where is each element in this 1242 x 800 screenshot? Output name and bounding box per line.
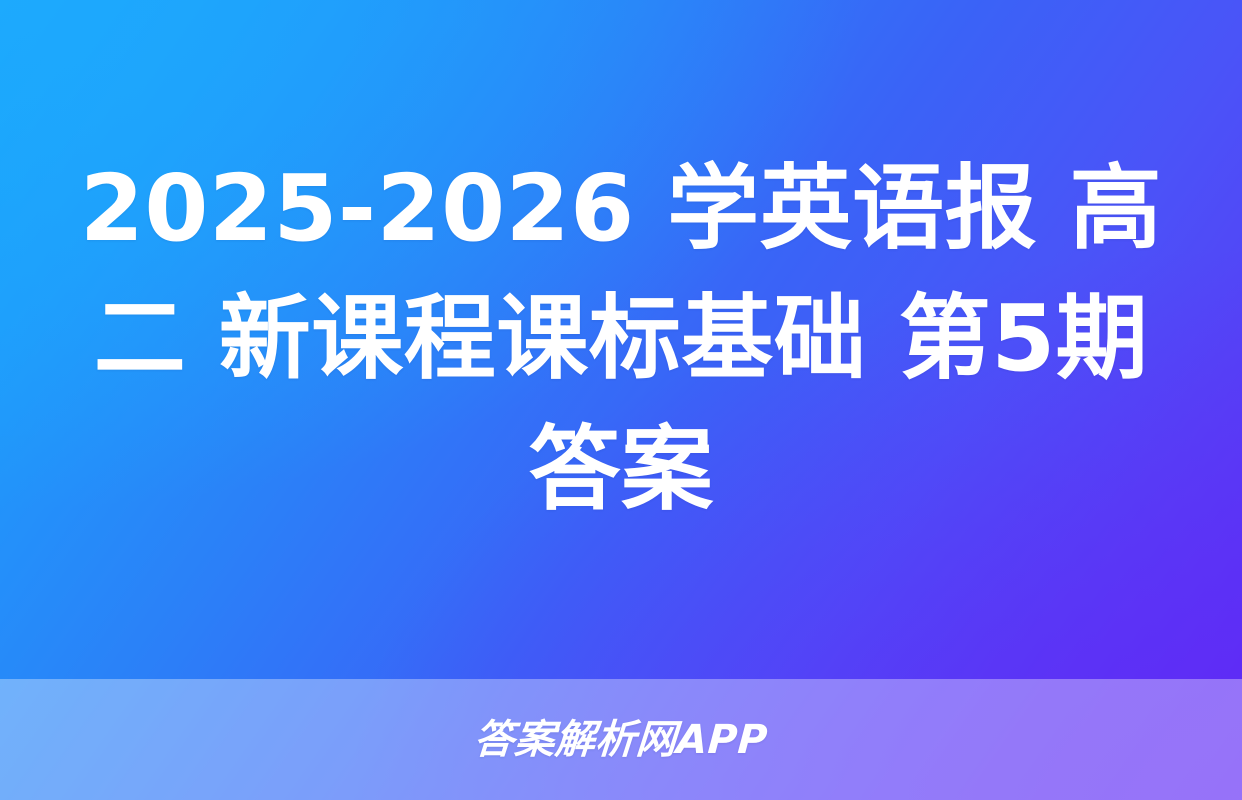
watermark-band: 答案解析网APP <box>0 679 1242 800</box>
page-title: 2025-2026 学英语报 高二 新课程课标基础 第5期答案 <box>62 144 1180 536</box>
app-watermark-label: 答案解析网APP <box>473 720 769 760</box>
title-container: 2025-2026 学英语报 高二 新课程课标基础 第5期答案 <box>0 0 1242 679</box>
answer-cover-card: 2025-2026 学英语报 高二 新课程课标基础 第5期答案 答案解析网APP <box>0 0 1242 800</box>
